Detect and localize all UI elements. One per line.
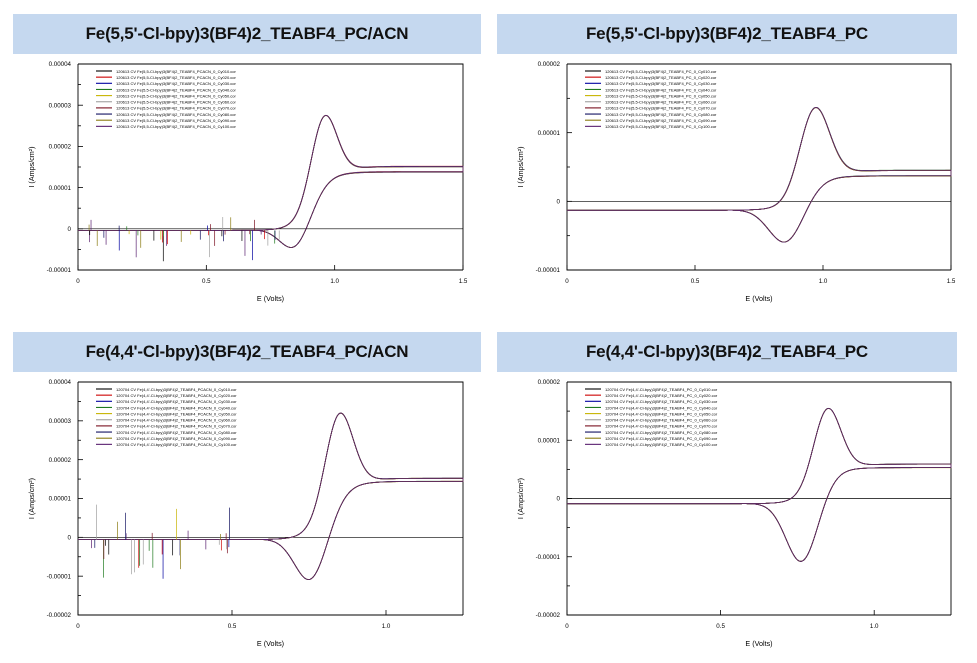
legend-label: 120704 CV Fe(4,4'-Cl-bpy)3(BF4)2_TEABF4_… — [605, 424, 718, 429]
cv-curve-Cy010 — [78, 115, 463, 247]
plot-area: -0.00002-0.0000100.000010.000020.000030.… — [0, 372, 489, 663]
legend-label: 120613 CV Fe(5,5-Cl-bpy)3(BF4)2_TEABF4_P… — [116, 112, 236, 117]
legend-label: 120704 CV Fe(4,4'-Cl-bpy)3(BF4)2_TEABF4_… — [116, 424, 237, 429]
y-tick-label: 0.00003 — [49, 102, 72, 109]
legend-label: 120704 CV Fe(4,4'-Cl-bpy)3(BF4)2_TEABF4_… — [605, 387, 718, 392]
plot-area: -0.0000100.000010.000020.000030.0000400.… — [0, 54, 489, 318]
panel-title-band: Fe(5,5'-Cl-bpy)3(BF4)2_TEABF4_PC — [497, 14, 957, 54]
legend-label: 120613 CV Fe(5,5-Cl-bpy)3(BF4)2_TEABF4_P… — [116, 118, 236, 123]
cv-plot-svg: -0.00002-0.0000100.000010.000020.000030.… — [0, 372, 489, 663]
legend-label: 120613 CV Fe(5,5-Cl-bpy)3(BF4)2_TEABF4_P… — [116, 81, 236, 86]
legend-label: 120613 CV Fe(5,5-Cl-bpy)3(BF4)2_TEABF4_P… — [116, 75, 236, 80]
legend-label: 120613 CV Fe(5,5-Cl-bpy)3(BF4)2_TEABF4_P… — [116, 87, 236, 92]
y-tick-label: 0.00002 — [538, 61, 561, 68]
x-axis-title: E (Volts) — [745, 639, 772, 648]
panel-title-band: Fe(4,4'-Cl-bpy)3(BF4)2_TEABF4_PC/ACN — [13, 332, 481, 372]
panel-grid: Fe(5,5'-Cl-bpy)3(BF4)2_TEABF4_PC/ACN -0.… — [0, 0, 977, 663]
y-tick-label: 0.00001 — [49, 496, 72, 503]
y-axis-title: I (Amps/cm²) — [516, 146, 525, 187]
legend-label: 120704 CV Fe(4,4'-Cl-bpy)3(BF4)2_TEABF4_… — [605, 436, 718, 441]
y-tick-label: 0.00002 — [49, 144, 72, 151]
legend-label: 120613 CV Fe(5,5-Cl-bpy)3(BF4)2_TEABF4_P… — [116, 100, 236, 105]
y-tick-label: 0 — [68, 535, 72, 542]
cv-curve-Cy050 — [78, 115, 463, 247]
legend-label: 120704 CV Fe(4,4'-Cl-bpy)3(BF4)2_TEABF4_… — [116, 436, 237, 441]
legend-label: 120704 CV Fe(4,4'-Cl-bpy)3(BF4)2_TEABF4_… — [605, 418, 718, 423]
panel-fe55-pcacn: Fe(5,5'-Cl-bpy)3(BF4)2_TEABF4_PC/ACN -0.… — [0, 0, 489, 318]
plot-area: -0.0000100.000010.0000200.51.01.5E (Volt… — [489, 54, 977, 318]
y-tick-label: 0.00004 — [49, 379, 72, 386]
panel-title-band: Fe(5,5'-Cl-bpy)3(BF4)2_TEABF4_PC/ACN — [13, 14, 481, 54]
legend-label: 120704 CV Fe(4,4'-Cl-bpy)3(BF4)2_TEABF4_… — [116, 418, 237, 423]
legend-label: 120704 CV Fe(4,4'-Cl-bpy)3(BF4)2_TEABF4_… — [116, 442, 237, 447]
y-tick-label: -0.00002 — [47, 612, 72, 619]
cv-plot-svg: -0.0000100.000010.0000200.51.01.5E (Volt… — [489, 54, 977, 318]
legend-label: 120704 CV Fe(4,4'-Cl-bpy)3(BF4)2_TEABF4_… — [605, 430, 718, 435]
y-tick-label: 0.00001 — [538, 130, 561, 137]
y-tick-label: 0.00002 — [538, 379, 561, 386]
cv-curve-Cy030 — [78, 116, 463, 248]
x-tick-label: 1.0 — [382, 623, 391, 630]
page-title: Fe(4,4'-Cl-bpy)3(BF4)2_TEABF4_PC/ACN — [86, 342, 409, 362]
legend-label: 120613 CV Fe(5,5-Cl-bpy)3(BF4)2_TEABF4_P… — [605, 87, 717, 92]
cv-curve-Cy080 — [78, 115, 463, 247]
legend-label: 120613 CV Fe(5,5-Cl-bpy)3(BF4)2_TEABF4_P… — [116, 69, 236, 74]
x-tick-label: 0.5 — [691, 278, 700, 285]
legend-label: 120613 CV Fe(5,5-Cl-bpy)3(BF4)2_TEABF4_P… — [605, 93, 717, 98]
y-tick-label: 0 — [557, 199, 561, 206]
legend-label: 120704 CV Fe(4,4'-Cl-bpy)3(BF4)2_TEABF4_… — [605, 405, 718, 410]
x-tick-label: 0 — [565, 623, 569, 630]
y-tick-label: 0.00002 — [49, 457, 72, 464]
legend-label: 120704 CV Fe(4,4'-Cl-bpy)3(BF4)2_TEABF4_… — [116, 387, 237, 392]
x-tick-label: 0.5 — [202, 278, 211, 285]
legend-label: 120613 CV Fe(5,5-Cl-bpy)3(BF4)2_TEABF4_P… — [605, 75, 717, 80]
cv-curve-Cy100 — [78, 115, 463, 247]
y-tick-label: 0.00001 — [538, 437, 561, 444]
y-tick-label: 0.00001 — [49, 185, 72, 192]
panel-fe44-pcacn: Fe(4,4'-Cl-bpy)3(BF4)2_TEABF4_PC/ACN -0.… — [0, 318, 489, 663]
legend-label: 120613 CV Fe(5,5-Cl-bpy)3(BF4)2_TEABF4_P… — [116, 106, 236, 111]
x-tick-label: 1.0 — [819, 278, 828, 285]
y-tick-label: -0.00001 — [47, 573, 72, 580]
y-tick-label: 0.00004 — [49, 61, 72, 68]
legend-label: 120704 CV Fe(4,4'-Cl-bpy)3(BF4)2_TEABF4_… — [116, 430, 237, 435]
x-tick-label: 0 — [76, 623, 80, 630]
page-title: Fe(4,4'-Cl-bpy)3(BF4)2_TEABF4_PC — [586, 342, 868, 362]
y-tick-label: -0.00001 — [536, 267, 561, 274]
cv-curve-Cy060 — [78, 115, 463, 247]
legend-label: 120704 CV Fe(4,4'-Cl-bpy)3(BF4)2_TEABF4_… — [116, 399, 237, 404]
x-tick-label: 1.5 — [459, 278, 468, 285]
y-tick-label: -0.00001 — [47, 267, 72, 274]
cv-curve-Cy070 — [78, 115, 463, 247]
panel-fe55-pc: Fe(5,5'-Cl-bpy)3(BF4)2_TEABF4_PC -0.0000… — [489, 0, 977, 318]
y-tick-label: -0.00002 — [536, 612, 561, 619]
legend-label: 120613 CV Fe(5,5-Cl-bpy)3(BF4)2_TEABF4_P… — [605, 106, 717, 111]
legend-label: 120704 CV Fe(4,4'-Cl-bpy)3(BF4)2_TEABF4_… — [605, 399, 718, 404]
x-tick-label: 0 — [76, 278, 80, 285]
y-tick-label: -0.00001 — [536, 554, 561, 561]
legend-label: 120613 CV Fe(5,5-Cl-bpy)3(BF4)2_TEABF4_P… — [605, 100, 717, 105]
y-tick-label: 0.00003 — [49, 418, 72, 425]
x-tick-label: 0.5 — [716, 623, 725, 630]
y-axis-title: I (Amps/cm²) — [27, 478, 36, 519]
legend-label: 120704 CV Fe(4,4'-Cl-bpy)3(BF4)2_TEABF4_… — [116, 405, 237, 410]
legend-label: 120613 CV Fe(5,5-Cl-bpy)3(BF4)2_TEABF4_P… — [605, 124, 717, 129]
cv-figure-grid: Fe(5,5'-Cl-bpy)3(BF4)2_TEABF4_PC/ACN -0.… — [0, 0, 977, 663]
legend-label: 120613 CV Fe(5,5-Cl-bpy)3(BF4)2_TEABF4_P… — [605, 118, 717, 123]
legend-label: 120704 CV Fe(4,4'-Cl-bpy)3(BF4)2_TEABF4_… — [605, 442, 718, 447]
x-tick-label: 1.0 — [870, 623, 879, 630]
x-axis-title: E (Volts) — [257, 294, 284, 303]
page-title: Fe(5,5'-Cl-bpy)3(BF4)2_TEABF4_PC/ACN — [86, 24, 409, 44]
legend-label: 120613 CV Fe(5,5-Cl-bpy)3(BF4)2_TEABF4_P… — [116, 93, 236, 98]
cv-curve-Cy040 — [78, 115, 463, 247]
plot-area: -0.00002-0.0000100.000010.0000200.51.0E … — [489, 372, 977, 663]
legend-label: 120704 CV Fe(4,4'-Cl-bpy)3(BF4)2_TEABF4_… — [605, 393, 718, 398]
legend-label: 120613 CV Fe(5,5-Cl-bpy)3(BF4)2_TEABF4_P… — [116, 124, 236, 129]
y-tick-label: 0 — [557, 496, 561, 503]
x-tick-label: 0.5 — [228, 623, 237, 630]
legend-label: 120613 CV Fe(5,5-Cl-bpy)3(BF4)2_TEABF4_P… — [605, 69, 717, 74]
legend-label: 120613 CV Fe(5,5-Cl-bpy)3(BF4)2_TEABF4_P… — [605, 112, 717, 117]
legend-label: 120704 CV Fe(4,4'-Cl-bpy)3(BF4)2_TEABF4_… — [116, 411, 237, 416]
page-title: Fe(5,5'-Cl-bpy)3(BF4)2_TEABF4_PC — [586, 24, 868, 44]
y-axis-title: I (Amps/cm²) — [27, 146, 36, 187]
cv-curve-Cy090 — [78, 115, 463, 247]
y-axis-title: I (Amps/cm²) — [516, 478, 525, 519]
y-tick-label: 0 — [68, 226, 72, 233]
panel-title-band: Fe(4,4'-Cl-bpy)3(BF4)2_TEABF4_PC — [497, 332, 957, 372]
panel-fe44-pc: Fe(4,4'-Cl-bpy)3(BF4)2_TEABF4_PC -0.0000… — [489, 318, 977, 663]
x-tick-label: 0 — [565, 278, 569, 285]
x-tick-label: 1.5 — [947, 278, 956, 285]
cv-plot-svg: -0.0000100.000010.000020.000030.0000400.… — [0, 54, 489, 318]
x-tick-label: 1.0 — [330, 278, 339, 285]
x-axis-title: E (Volts) — [257, 639, 284, 648]
cv-curve-Cy020 — [78, 115, 463, 247]
cv-plot-svg: -0.00002-0.0000100.000010.0000200.51.0E … — [489, 372, 977, 663]
x-axis-title: E (Volts) — [745, 294, 772, 303]
legend-label: 120704 CV Fe(4,4'-Cl-bpy)3(BF4)2_TEABF4_… — [605, 411, 718, 416]
legend-label: 120704 CV Fe(4,4'-Cl-bpy)3(BF4)2_TEABF4_… — [116, 393, 237, 398]
legend-label: 120613 CV Fe(5,5-Cl-bpy)3(BF4)2_TEABF4_P… — [605, 81, 717, 86]
